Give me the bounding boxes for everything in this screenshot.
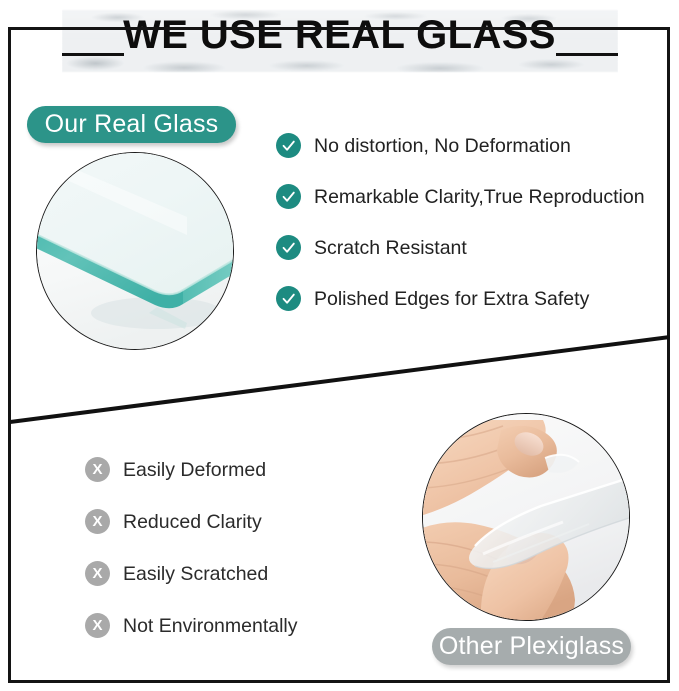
list-item-label: No distortion, No Deformation [314, 134, 571, 158]
x-icon: X [85, 509, 110, 534]
list-item-label: Remarkable Clarity,True Reproduction [314, 185, 645, 209]
advantages-list: No distortion, No Deformation Remarkable… [276, 131, 645, 335]
list-item: X Easily Scratched [85, 559, 298, 588]
disadvantages-list: X Easily Deformed X Reduced Clarity X Ea… [85, 455, 298, 663]
list-item-label: Not Environmentally [123, 614, 298, 638]
list-item-label: Easily Scratched [123, 562, 268, 586]
list-item: No distortion, No Deformation [276, 131, 645, 160]
x-icon: X [85, 457, 110, 482]
plexiglass-bending-photo [422, 413, 630, 621]
x-icon: X [85, 561, 110, 586]
list-item: X Not Environmentally [85, 611, 298, 640]
check-icon [276, 286, 301, 311]
list-item: X Reduced Clarity [85, 507, 298, 536]
list-item-label: Reduced Clarity [123, 510, 262, 534]
badge-our-real-glass-label: Our Real Glass [45, 110, 219, 139]
check-icon [276, 133, 301, 158]
badge-other-plexiglass: Other Plexiglass [432, 628, 631, 665]
real-glass-corner-photo [36, 152, 234, 350]
list-item: Scratch Resistant [276, 233, 645, 262]
list-item-label: Polished Edges for Extra Safety [314, 287, 589, 311]
list-item-label: Scratch Resistant [314, 236, 467, 260]
check-icon [276, 184, 301, 209]
comparison-infographic: WE USE REAL GLASS Our Real Glass [0, 0, 679, 691]
badge-other-plexiglass-label: Other Plexiglass [439, 632, 624, 661]
x-icon: X [85, 613, 110, 638]
list-item-label: Easily Deformed [123, 458, 266, 482]
list-item: Polished Edges for Extra Safety [276, 284, 645, 313]
list-item: X Easily Deformed [85, 455, 298, 484]
check-icon [276, 235, 301, 260]
list-item: Remarkable Clarity,True Reproduction [276, 182, 645, 211]
badge-our-real-glass: Our Real Glass [27, 106, 236, 143]
